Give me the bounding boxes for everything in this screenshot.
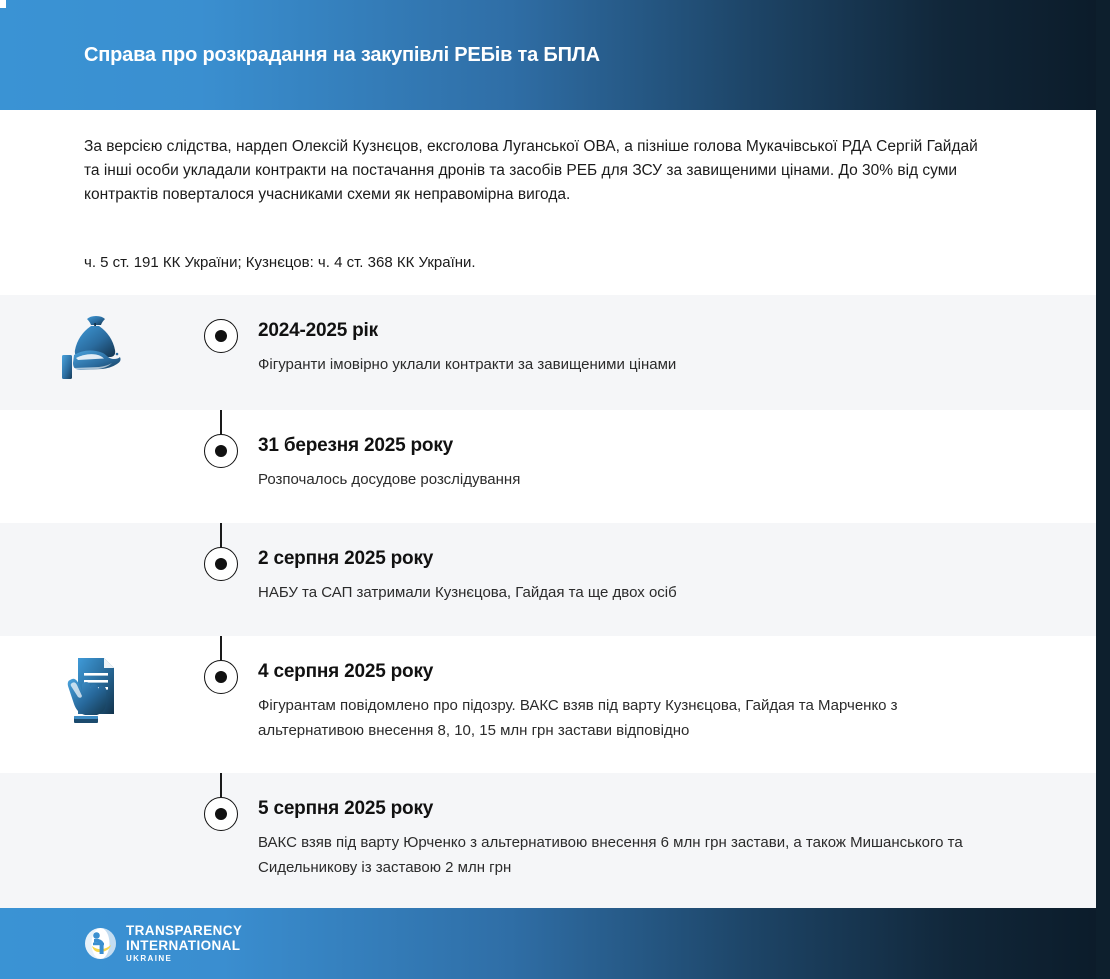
logo-line-transparency: TRANSPARENCY	[126, 924, 242, 938]
timeline-dot	[204, 319, 238, 353]
case-summary-text: За версією слідства, нардеп Олексій Кузн…	[84, 135, 989, 207]
timeline-connector-line	[220, 636, 221, 660]
timeline-date: 31 березня 2025 року	[258, 435, 1056, 457]
timeline-text-cell: 31 березня 2025 року Розпочалось досудов…	[252, 410, 1096, 514]
timeline-row: 31 березня 2025 року Розпочалось досудов…	[0, 410, 1096, 523]
header-corner-notch	[0, 0, 6, 8]
organization-logo: TRANSPARENCY INTERNATIONAL UKRAINE	[84, 924, 242, 963]
timeline-connector-line	[220, 523, 221, 547]
timeline-row: 4 серпня 2025 року Фігурантам повідомлен…	[0, 636, 1096, 773]
timeline-description: Фігурантам повідомлено про підозру. ВАКС…	[258, 693, 978, 743]
timeline-text-cell: 2024-2025 рік Фігуранти імовірно уклали …	[252, 295, 1096, 399]
page-title: Справа про розкрадання на закупівлі РЕБі…	[84, 44, 600, 67]
transparency-international-globe-icon	[84, 927, 117, 960]
timeline-row: 5 серпня 2025 року ВАКС взяв під варту Ю…	[0, 773, 1096, 908]
logo-line-international: INTERNATIONAL	[126, 939, 242, 953]
right-edge-strip	[1096, 0, 1110, 979]
timeline: 2024-2025 рік Фігуранти імовірно уклали …	[0, 295, 1096, 908]
timeline-description: Розпочалось досудове розслідування	[258, 467, 978, 492]
timeline-text-cell: 4 серпня 2025 року Фігурантам повідомлен…	[252, 636, 1096, 765]
timeline-marker-cell	[190, 295, 252, 353]
timeline-dot	[204, 434, 238, 468]
timeline-row: 2 серпня 2025 року НАБУ та САП затримали…	[0, 523, 1096, 636]
money-bag-in-hand-icon	[60, 313, 130, 389]
logo-wordmark: TRANSPARENCY INTERNATIONAL UKRAINE	[126, 924, 242, 963]
timeline-marker-cell	[190, 523, 252, 581]
timeline-icon-cell	[0, 773, 190, 791]
timeline-marker-cell	[190, 410, 252, 468]
timeline-icon-cell	[0, 410, 190, 428]
timeline-icon-cell	[0, 295, 190, 389]
document-in-hand-icon	[60, 654, 130, 730]
timeline-connector-line	[220, 773, 221, 797]
timeline-icon-cell	[0, 636, 190, 730]
timeline-date: 5 серпня 2025 року	[258, 798, 1056, 820]
timeline-connector-line	[220, 410, 221, 434]
timeline-date: 4 серпня 2025 року	[258, 661, 1056, 683]
timeline-marker-cell	[190, 636, 252, 694]
timeline-text-cell: 5 серпня 2025 року ВАКС взяв під варту Ю…	[252, 773, 1096, 902]
timeline-date: 2 серпня 2025 року	[258, 548, 1056, 570]
timeline-marker-cell	[190, 773, 252, 831]
timeline-dot	[204, 660, 238, 694]
timeline-description: Фігуранти імовірно уклали контракти за з…	[258, 352, 978, 377]
timeline-row: 2024-2025 рік Фігуранти імовірно уклали …	[0, 295, 1096, 410]
infographic-page: Справа про розкрадання на закупівлі РЕБі…	[0, 0, 1110, 979]
header-bar: Справа про розкрадання на закупівлі РЕБі…	[0, 0, 1110, 110]
intro-section: За версією слідства, нардеп Олексій Кузн…	[0, 110, 1096, 295]
timeline-text-cell: 2 серпня 2025 року НАБУ та САП затримали…	[252, 523, 1096, 627]
legal-articles-text: ч. 5 ст. 191 КК України; Кузнєцов: ч. 4 …	[84, 252, 989, 274]
timeline-icon-cell	[0, 523, 190, 541]
timeline-description: НАБУ та САП затримали Кузнєцова, Гайдая …	[258, 580, 978, 605]
timeline-description: ВАКС взяв під варту Юрченко з альтернати…	[258, 830, 978, 880]
timeline-dot	[204, 547, 238, 581]
logo-line-ukraine: UKRAINE	[126, 955, 242, 963]
timeline-date: 2024-2025 рік	[258, 320, 1056, 342]
timeline-dot	[204, 797, 238, 831]
footer-bar: TRANSPARENCY INTERNATIONAL UKRAINE	[0, 908, 1110, 979]
